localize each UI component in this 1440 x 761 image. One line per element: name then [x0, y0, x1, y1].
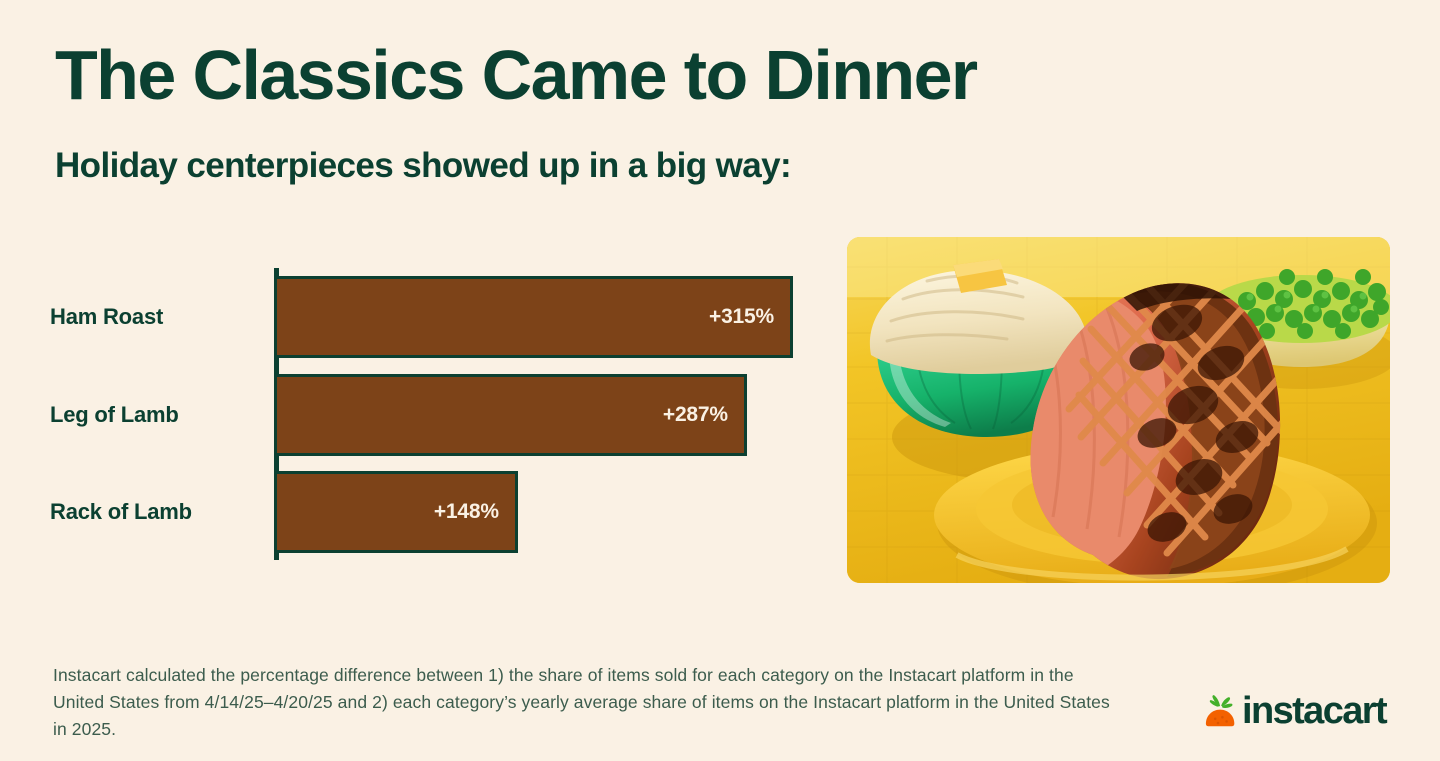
- bar-value-label: +148%: [434, 500, 515, 524]
- chart-row: Ham Roast +315%: [50, 276, 810, 358]
- bar-value-label: +315%: [709, 305, 790, 329]
- bar-category-label: Rack of Lamb: [50, 499, 260, 525]
- bar-rack-of-lamb: +148%: [274, 471, 518, 553]
- instacart-wordmark: instacart: [1242, 692, 1386, 730]
- methodology-footnote: Instacart calculated the percentage diff…: [53, 662, 1123, 743]
- dinner-photo-illustration: [847, 237, 1390, 583]
- page-title: The Classics Came to Dinner: [55, 36, 1385, 114]
- bar-ham-roast: +315%: [274, 276, 793, 358]
- carrot-icon: [1203, 692, 1237, 730]
- dinner-photo: [847, 237, 1390, 583]
- bar-leg-of-lamb: +287%: [274, 374, 747, 456]
- chart-row: Rack of Lamb +148%: [50, 471, 810, 553]
- bar-category-label: Leg of Lamb: [50, 402, 260, 428]
- bar-value-label: +287%: [663, 403, 744, 427]
- bar-chart: Ham Roast +315% Leg of Lamb +287% Rack o…: [50, 262, 810, 567]
- instacart-logo[interactable]: instacart: [1203, 692, 1386, 730]
- chart-row: Leg of Lamb +287%: [50, 374, 810, 456]
- infographic-page: The Classics Came to Dinner Holiday cent…: [0, 0, 1440, 761]
- bar-category-label: Ham Roast: [50, 304, 260, 330]
- page-subtitle: Holiday centerpieces showed up in a big …: [55, 145, 791, 187]
- chart-bars: Ham Roast +315% Leg of Lamb +287% Rack o…: [50, 262, 810, 567]
